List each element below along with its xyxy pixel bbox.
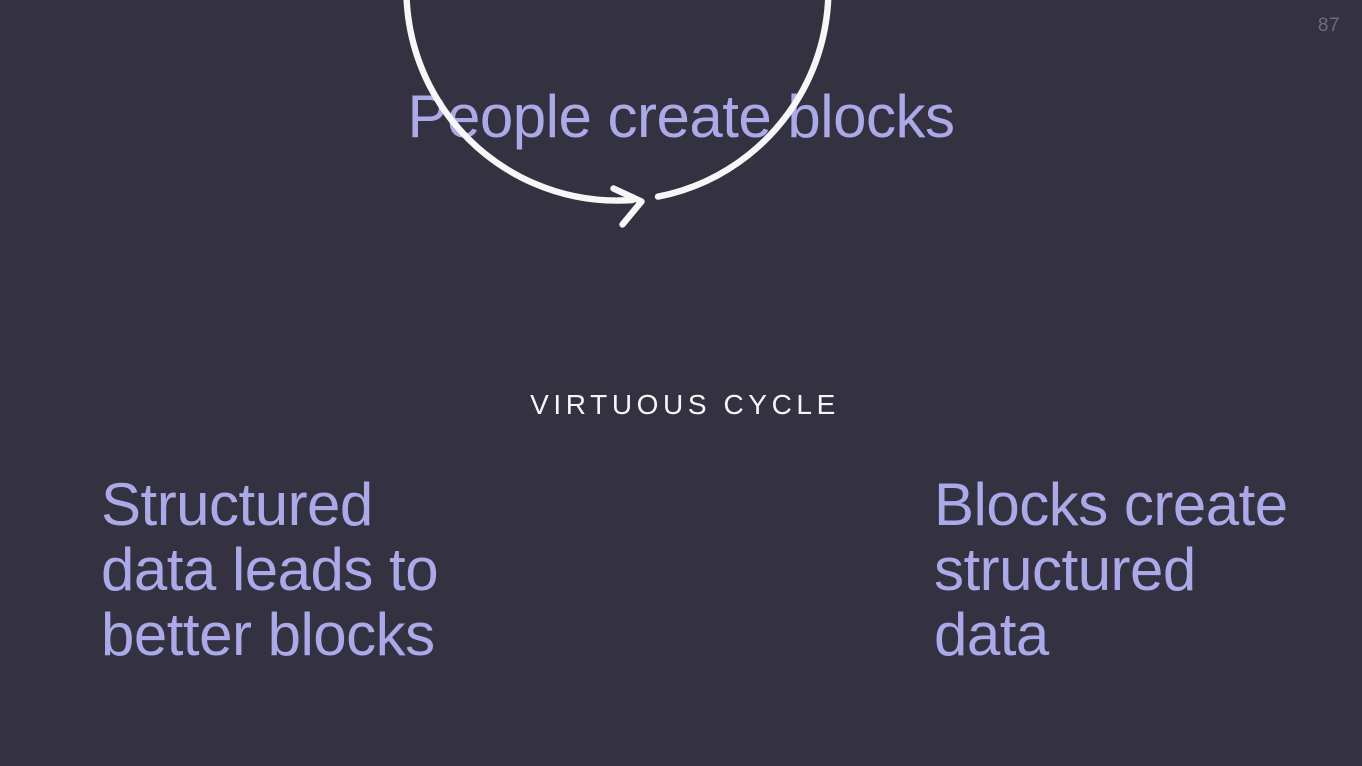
caption-right-blocks-create-structured-data: Blocks create structured data [934, 472, 1354, 667]
slide-canvas: 87 People create blocks VIRTUOUS CYCLE S… [0, 0, 1362, 766]
caption-top-people-create-blocks: People create blocks [0, 82, 1362, 152]
cycle-arrowhead-icon [614, 189, 642, 225]
cycle-center-label: VIRTUOUS CYCLE [455, 388, 915, 422]
page-number: 87 [1318, 16, 1340, 35]
caption-left-structured-data-leads-to-better-blocks: Structured data leads to better blocks [101, 472, 521, 667]
